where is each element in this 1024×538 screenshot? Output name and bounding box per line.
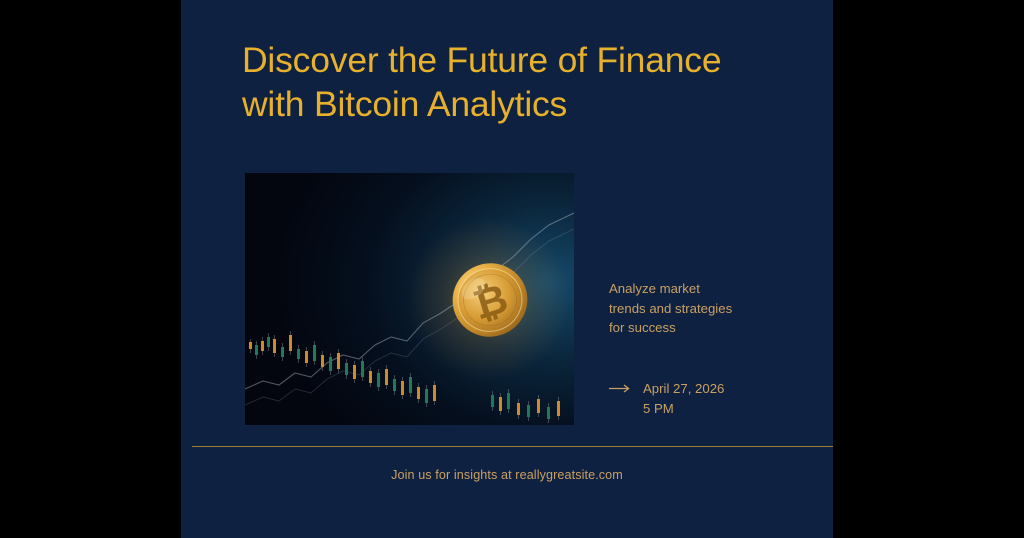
- candlestick: [507, 389, 510, 413]
- poster-card: Discover the Future of Finance with Bitc…: [181, 0, 833, 538]
- candlestick: [321, 351, 324, 371]
- event-datetime: April 27, 2026 5 PM: [643, 379, 724, 418]
- bitcoin-chart-photo: ₿: [245, 173, 574, 425]
- candlestick: [385, 365, 388, 389]
- candlestick: [313, 341, 316, 365]
- candlestick: [305, 347, 308, 367]
- page-title: Discover the Future of Finance with Bitc…: [242, 38, 802, 126]
- footer-website: Join us for insights at reallygreatsite.…: [181, 468, 833, 482]
- candlestick: [409, 373, 412, 397]
- candlestick: [491, 391, 494, 411]
- candlestick: [393, 375, 396, 395]
- candlestick: [345, 359, 348, 379]
- candlestick: [329, 353, 332, 375]
- candlestick: [297, 345, 300, 363]
- candlestick: [281, 343, 284, 361]
- candlestick: [499, 393, 502, 415]
- poster-canvas: Discover the Future of Finance with Bitc…: [0, 0, 1024, 538]
- candlestick: [267, 333, 270, 351]
- candlestick: [537, 395, 540, 417]
- candlestick: [417, 383, 420, 403]
- candlestick: [337, 349, 340, 373]
- event-description: Analyze market trends and strategies for…: [609, 279, 794, 338]
- candlestick: [369, 367, 372, 387]
- candlestick: [401, 377, 404, 399]
- candlestick: [249, 339, 252, 353]
- candlestick: [273, 335, 276, 357]
- arrow-right-icon: [609, 384, 631, 393]
- candlestick: [261, 337, 264, 355]
- candlestick: [433, 381, 436, 405]
- candlestick: [517, 399, 520, 419]
- candlestick: [557, 397, 560, 420]
- candlestick: [377, 369, 380, 391]
- candlestick: [527, 401, 530, 421]
- candlestick: [289, 331, 292, 355]
- event-date-block: April 27, 2026 5 PM: [609, 379, 809, 418]
- candlestick: [425, 385, 428, 407]
- candlestick: [361, 357, 364, 381]
- candlestick: [255, 341, 258, 359]
- candlestick: [353, 361, 356, 383]
- candlestick: [547, 403, 550, 423]
- divider: [192, 446, 833, 447]
